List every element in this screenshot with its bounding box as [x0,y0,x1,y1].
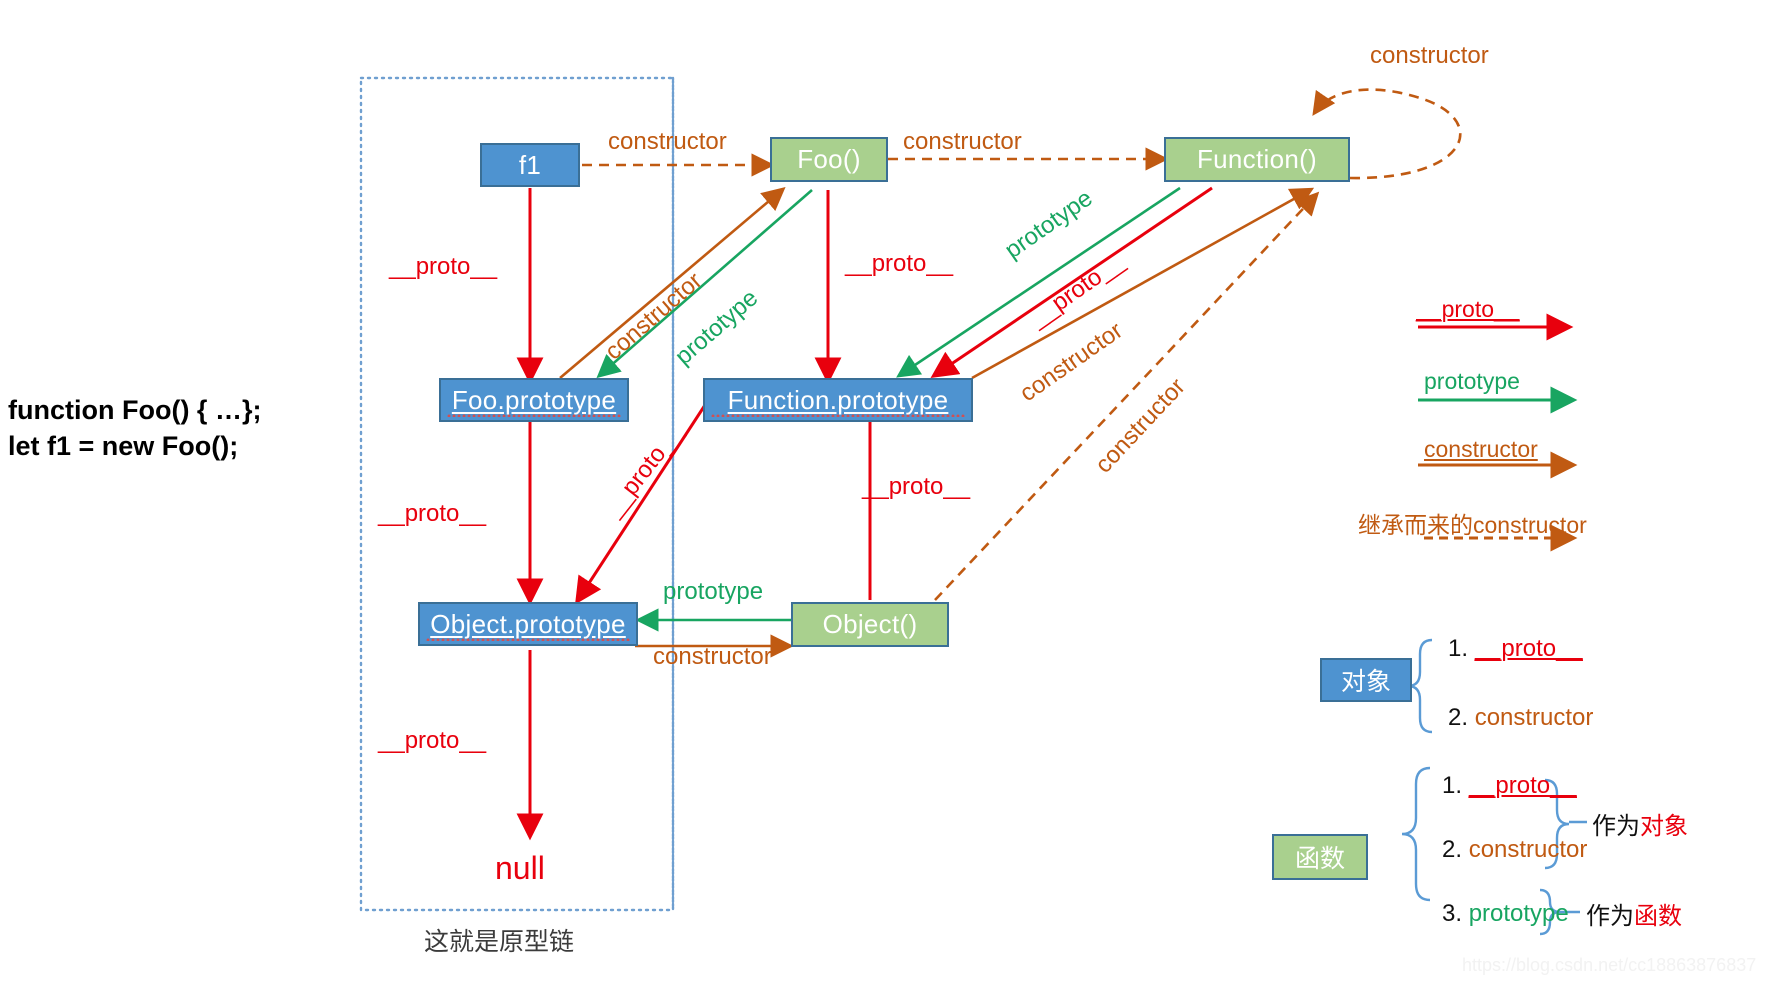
function-group-item-3: 3. prototype [1442,900,1569,928]
object-item-1-number: 1. [1448,635,1468,662]
code-line-1: function Foo() { …}; [8,392,261,428]
spellcheck-underline [711,413,965,417]
node-function[interactable]: Function() [1164,137,1350,182]
function-item-1-number: 1. [1442,772,1462,799]
legend-label-constructor: constructor [1424,436,1538,463]
watermark: https://blog.csdn.net/cc18863876837 [1462,955,1756,976]
object-group-item-1: 1. __proto__ [1448,635,1583,663]
function-group-brace [1402,768,1430,900]
as-function-label: 作为函数 [1586,896,1682,931]
edge-label-foo-proto: __proto__ [845,250,953,278]
spellcheck-underline [426,637,630,641]
edge-label-f1-proto: __proto__ [389,253,497,281]
edge-label-function-self-constructor: constructor [1370,42,1489,70]
node-object[interactable]: Object() [791,602,949,647]
function-item-3-text: prototype [1469,900,1569,927]
as-object-word: 对象 [1640,813,1688,840]
node-null: null [495,850,545,887]
function-item-2-number: 2. [1442,836,1462,863]
legend-label-proto: __proto__ [1416,296,1520,323]
function-group-item-1: 1. __proto__ [1442,772,1577,800]
legend-label-inherited-constructor: 继承而来的constructor [1358,506,1587,540]
diagram-caption: 这就是原型链 [424,922,574,958]
function-item-2-text: constructor [1469,836,1588,863]
edge-label-objproto-proto: __proto__ [378,727,486,755]
edge-label-object-to-objproto-prototype: prototype [663,578,763,606]
object-item-1-text: __proto__ [1475,635,1583,662]
node-foo[interactable]: Foo() [770,137,888,182]
legend-box-function[interactable]: 函数 [1272,834,1368,880]
legend-label-prototype: prototype [1424,368,1520,395]
as-function-word: 函数 [1634,903,1682,930]
spellcheck-underline [447,413,621,417]
function-group-item-2: 2. constructor [1442,836,1587,864]
edge-label-funcproto-to-objproto-proto: __proto__ [600,420,689,522]
as-object-label: 作为对象 [1592,806,1688,841]
node-function-prototype[interactable]: Function.prototype [703,378,973,422]
edge-label-fooproto-proto: __proto__ [378,500,486,528]
node-foo-prototype[interactable]: Foo.prototype [439,378,629,422]
object-group-item-2: 2. constructor [1448,704,1593,732]
as-function-prefix: 作为 [1586,903,1634,930]
edge-label-f1-to-foo-constructor: constructor [608,128,727,156]
node-object-prototype[interactable]: Object.prototype [418,602,638,646]
edge-label-objproto-to-object-constructor: constructor [653,643,772,671]
edge-label-function-to-funcproto-prototype: prototype [1000,185,1098,265]
edge-label-funcproto-to-function-constructor: constructor [1015,317,1128,408]
edge-label-object-to-function-constructor: constructor [1090,373,1191,479]
code-line-2: let f1 = new Foo(); [8,428,261,464]
as-object-prefix: 作为 [1592,813,1640,840]
object-item-2-number: 2. [1448,704,1468,731]
diagram-canvas: function Foo() { …}; let f1 = new Foo();… [0,0,1768,992]
legend-box-object[interactable]: 对象 [1320,658,1412,702]
node-f1[interactable]: f1 [480,143,580,187]
edge-label-foo-to-function-constructor: constructor [903,128,1022,156]
edge-label-funcproto-proto: __proto__ [862,473,970,501]
function-item-1-text: __proto__ [1469,772,1577,799]
object-item-2-text: constructor [1475,704,1594,731]
code-snippet: function Foo() { …}; let f1 = new Foo(); [8,392,261,465]
function-item-3-number: 3. [1442,900,1462,927]
